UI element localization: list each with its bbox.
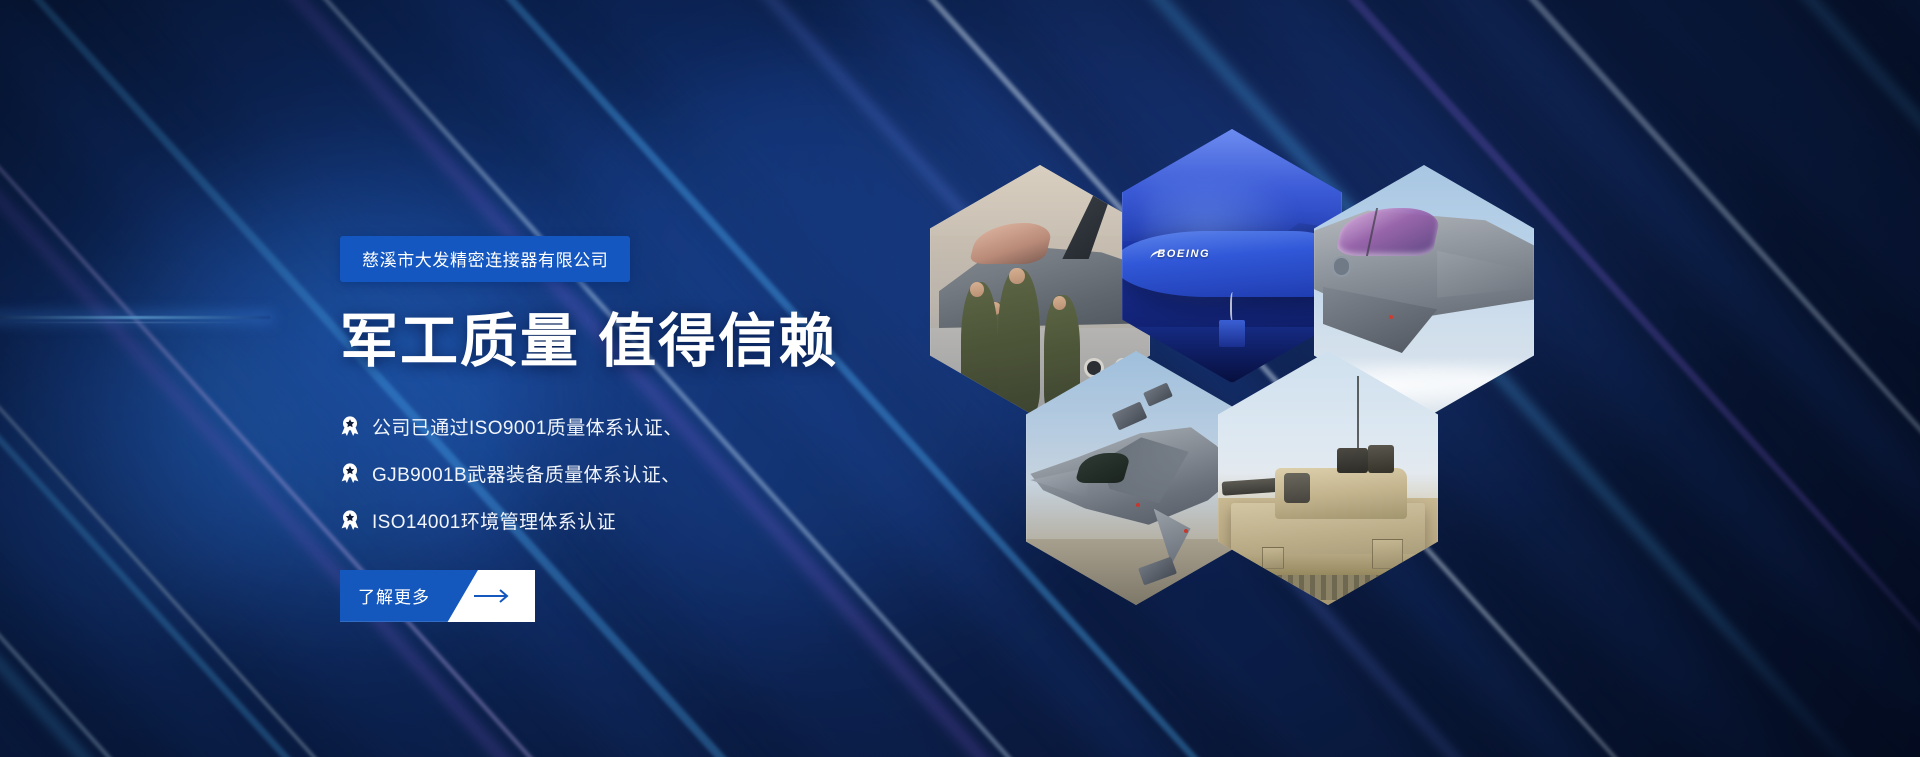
arrow-right-icon <box>473 570 513 622</box>
hero-banner: BOEING <box>0 0 1920 757</box>
list-item-label: 公司已通过ISO9001质量体系认证、 <box>372 413 683 440</box>
hex-image-boeing-hangar: BOEING <box>1122 129 1342 383</box>
list-item-label: ISO14001环境管理体系认证 <box>372 507 616 534</box>
learn-more-label: 了解更多 <box>358 570 430 622</box>
background-glow-blob <box>0 330 280 630</box>
medal-icon <box>340 463 360 483</box>
list-item: GJB9001B武器装备质量体系认证、 <box>340 460 1060 487</box>
list-item: 公司已通过ISO9001质量体系认证、 <box>340 413 1060 440</box>
company-name-badge: 慈溪市大发精密连接器有限公司 <box>340 236 630 282</box>
banner-content: 慈溪市大发精密连接器有限公司 军工质量 值得信赖 公司已通过ISO9001质量体… <box>340 236 1060 622</box>
banner-headline: 军工质量 值得信赖 <box>340 312 1060 373</box>
certification-list: 公司已通过ISO9001质量体系认证、 GJB9001B武器装备质量体系认证、 <box>340 413 1060 534</box>
horizontal-light-streak <box>10 322 250 323</box>
learn-more-button[interactable]: 了解更多 <box>340 570 535 622</box>
medal-icon <box>340 416 360 436</box>
horizontal-light-streak <box>0 316 270 319</box>
medal-icon <box>340 510 360 530</box>
list-item-label: GJB9001B武器装备质量体系认证、 <box>372 460 681 487</box>
list-item: ISO14001环境管理体系认证 <box>340 507 1060 534</box>
